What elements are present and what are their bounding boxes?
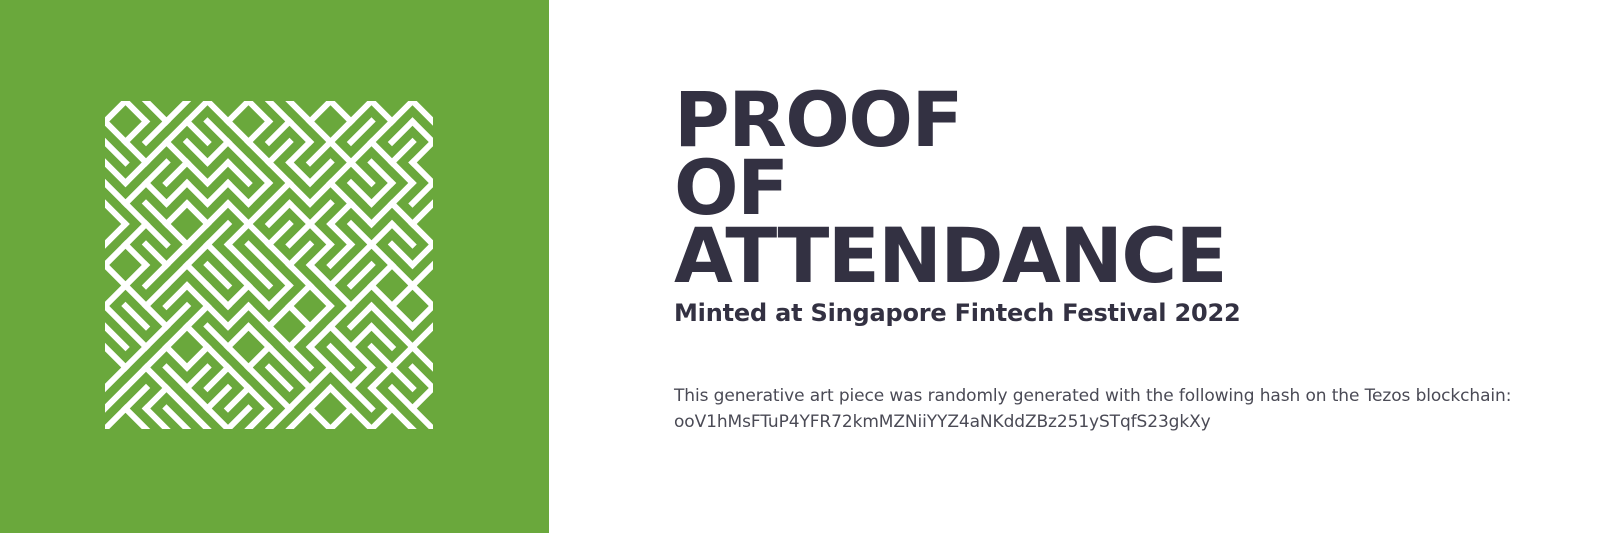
event-subtitle: Minted at Singapore Fintech Festival 202…	[674, 298, 1240, 328]
page-title: PROOF OF ATTENDANCE	[674, 86, 1574, 290]
title-line-attendance: ATTENDANCE	[674, 222, 1574, 290]
description-text: This generative art piece was randomly g…	[674, 383, 1524, 409]
artwork-panel	[0, 0, 549, 533]
content-panel: PROOF OF ATTENDANCE Minted at Singapore …	[549, 0, 1600, 533]
proof-of-attendance-card: PROOF OF ATTENDANCE Minted at Singapore …	[0, 0, 1600, 533]
blockchain-hash: ooV1hMsFTuP4YFR72kmMZNiiYYZ4aNKddZBz251y…	[674, 409, 1524, 435]
description-block: This generative art piece was randomly g…	[674, 383, 1524, 435]
generative-art-canvas	[105, 101, 433, 429]
title-line-proof: PROOF	[674, 86, 1574, 154]
